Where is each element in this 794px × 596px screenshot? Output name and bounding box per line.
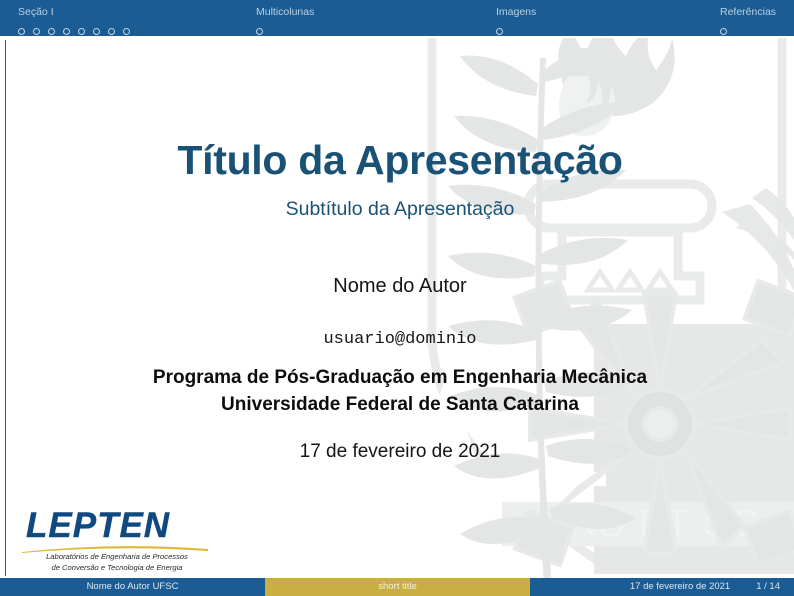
title-block: Título da Apresentação Subtítulo da Apre… bbox=[6, 38, 794, 576]
nav-dot[interactable] bbox=[63, 28, 70, 35]
nav-section-dots[interactable] bbox=[496, 23, 536, 33]
lepten-logo: LEPTEN Laboratórios de Engenharia de Pro… bbox=[22, 508, 212, 574]
nav-section-dots[interactable] bbox=[720, 23, 776, 33]
footer-short-title: short title bbox=[265, 578, 530, 596]
lepten-tagline-line-1: Laboratórios de Engenharia de Processos bbox=[22, 552, 212, 563]
nav-section-label: Multicolunas bbox=[256, 6, 314, 19]
nav-section-dots[interactable] bbox=[18, 23, 133, 33]
lepten-wordmark: LEPTEN bbox=[26, 508, 212, 543]
page-subtitle: Subtítulo da Apresentação bbox=[6, 196, 794, 222]
nav-dot[interactable] bbox=[256, 28, 263, 35]
nav-section-referencias[interactable]: Referências bbox=[720, 6, 776, 38]
nav-section-label: Seção I bbox=[18, 6, 133, 19]
footer-right: 17 de fevereiro de 20211 / 14 bbox=[530, 578, 794, 596]
nav-section-label: Referências bbox=[720, 6, 776, 19]
institute-line-1: Programa de Pós-Graduação em Engenharia … bbox=[153, 367, 647, 388]
navbar-bottom-divider bbox=[0, 36, 794, 38]
presentation-date: 17 de fevereiro de 2021 bbox=[6, 439, 794, 465]
lepten-tagline: Laboratórios de Engenharia de Processos … bbox=[22, 552, 212, 573]
nav-dot[interactable] bbox=[108, 28, 115, 35]
footer-date: 17 de fevereiro de 2021 bbox=[630, 581, 730, 592]
slide-footer: Nome do Autor UFSC short title 17 de fev… bbox=[0, 578, 794, 596]
nav-section-label: Imagens bbox=[496, 6, 536, 19]
page-title: Título da Apresentação bbox=[6, 136, 794, 184]
nav-section-dots[interactable] bbox=[256, 23, 314, 33]
author-email: usuario@dominio bbox=[6, 328, 794, 352]
author-name: Nome do Autor bbox=[6, 273, 794, 299]
slide-left-rule bbox=[5, 40, 6, 576]
nav-dot[interactable] bbox=[123, 28, 130, 35]
nav-section-multicolunas[interactable]: Multicolunas bbox=[256, 6, 314, 38]
footer-page-number: 1 / 14 bbox=[756, 581, 780, 592]
lepten-tagline-line-2: de Conversão e Tecnologia de Energia bbox=[22, 563, 212, 574]
nav-dot[interactable] bbox=[18, 28, 25, 35]
nav-section-imagens[interactable]: Imagens bbox=[496, 6, 536, 38]
nav-dot[interactable] bbox=[33, 28, 40, 35]
nav-section-secao-i[interactable]: Seção I bbox=[18, 6, 133, 38]
footer-author: Nome do Autor UFSC bbox=[0, 578, 265, 596]
navigation-bar: Seção I Multicolunas Imagens bbox=[0, 0, 794, 38]
nav-dot[interactable] bbox=[78, 28, 85, 35]
nav-dot[interactable] bbox=[93, 28, 100, 35]
institute-line-2: Universidade Federal de Santa Catarina bbox=[6, 391, 794, 418]
nav-dot[interactable] bbox=[720, 28, 727, 35]
nav-dot[interactable] bbox=[496, 28, 503, 35]
presentation-slide: ARS ET SC bbox=[0, 0, 794, 596]
institute-block: Programa de Pós-Graduação em Engenharia … bbox=[6, 364, 794, 418]
nav-dot[interactable] bbox=[48, 28, 55, 35]
